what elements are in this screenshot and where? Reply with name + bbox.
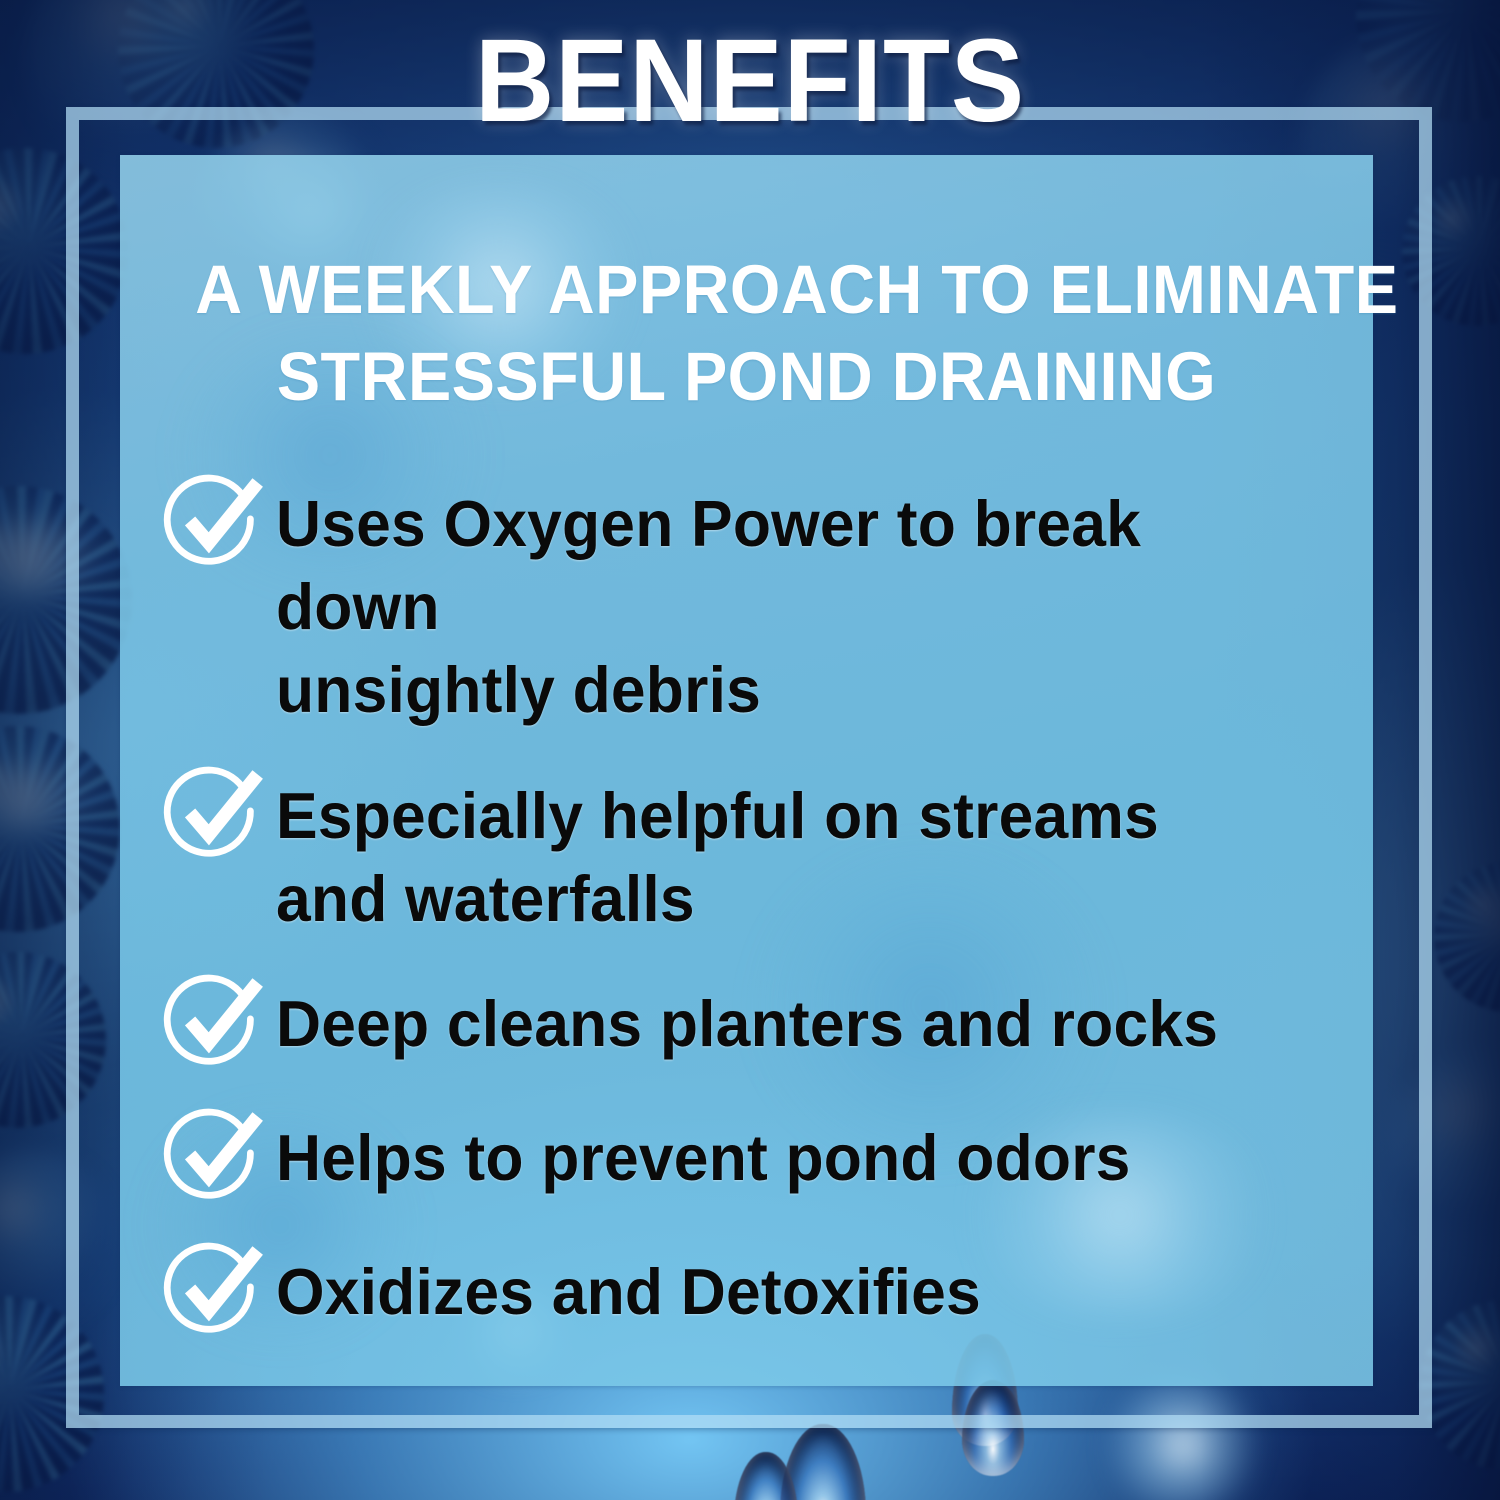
benefit-item: Helps to prevent pond odors: [162, 1114, 1362, 1208]
check-circle-icon: [162, 970, 266, 1074]
benefit-item: Oxidizes and Detoxifies: [162, 1248, 1362, 1342]
heading-line-1: A WEEKLY APPROACH TO ELIMINATE: [195, 247, 1298, 334]
benefit-text: Especially helpful on streams and waterf…: [276, 772, 1159, 940]
benefit-text: Uses Oxygen Power to break down unsightl…: [276, 480, 1319, 732]
benefits-infographic: A WEEKLY APPROACH TO ELIMINATE STRESSFUL…: [0, 0, 1500, 1500]
benefit-text: Helps to prevent pond odors: [276, 1114, 1131, 1199]
benefits-list: Uses Oxygen Power to break down unsightl…: [162, 480, 1362, 1342]
check-circle-icon: [162, 762, 266, 866]
heading-line-2: STRESSFUL POND DRAINING: [195, 334, 1298, 421]
panel-heading: A WEEKLY APPROACH TO ELIMINATE STRESSFUL…: [195, 247, 1298, 421]
benefit-item: Deep cleans planters and rocks: [162, 980, 1362, 1074]
benefit-text: Deep cleans planters and rocks: [276, 980, 1218, 1065]
check-circle-icon: [162, 470, 266, 574]
benefit-text: Oxidizes and Detoxifies: [276, 1248, 981, 1333]
benefit-item: Uses Oxygen Power to break down unsightl…: [162, 480, 1362, 732]
check-circle-icon: [162, 1104, 266, 1208]
check-circle-icon: [162, 1238, 266, 1342]
page-title: BENEFITS: [53, 22, 1448, 140]
content-panel: A WEEKLY APPROACH TO ELIMINATE STRESSFUL…: [120, 155, 1373, 1386]
benefit-item: Especially helpful on streams and waterf…: [162, 772, 1362, 940]
